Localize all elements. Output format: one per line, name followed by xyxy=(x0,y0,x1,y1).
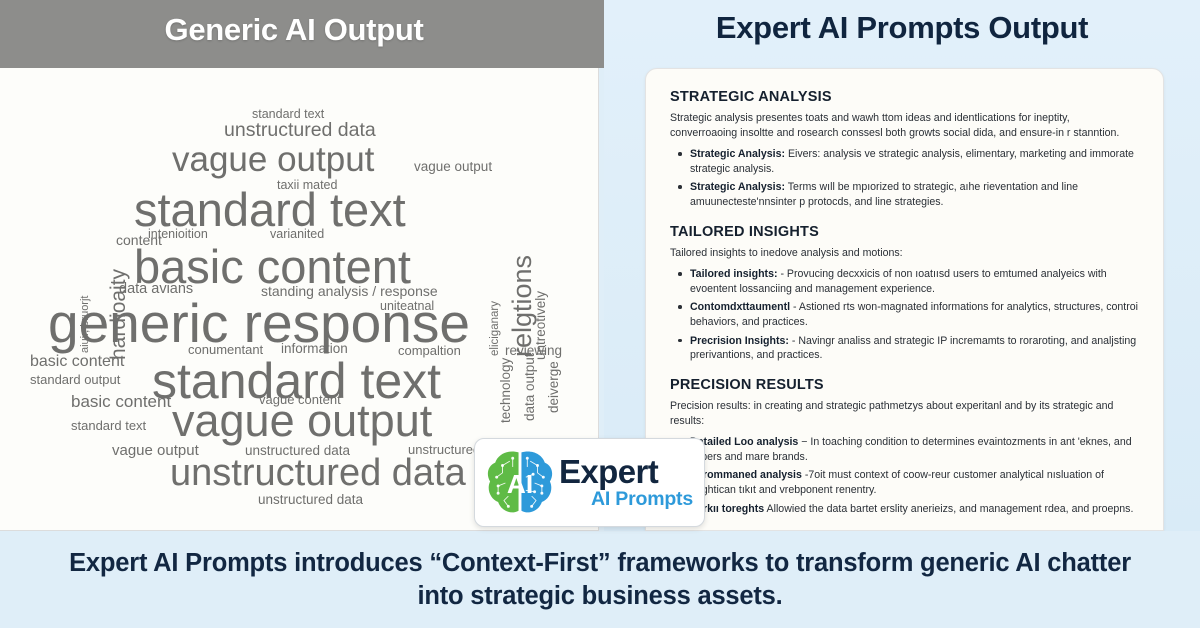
document-bullet-item: Tailored insights: - Provucing decxxicis… xyxy=(670,267,1139,296)
logo-wordmark: Expert AI Prompts xyxy=(557,455,694,509)
bullet-lead-label: Strategic Analysis: xyxy=(690,181,785,193)
word-cloud-term: unstructured data xyxy=(170,454,466,492)
bullet-lead-label: Perommaned analysis xyxy=(690,469,802,481)
document-bullet-list: Strategic Analysis: Eivers: analysis ve … xyxy=(670,147,1139,209)
document-bullet-list: Tailored insights: - Provucing decxxicis… xyxy=(670,267,1139,363)
word-cloud-term: unstructured data xyxy=(258,493,363,507)
right-panel-title: Expert AI Prompts Output xyxy=(604,10,1200,46)
document-bullet-item: Detailed Loo analysis − In toaching cond… xyxy=(670,435,1139,464)
brand-logo-badge: AI Expert AI Prompts xyxy=(474,438,705,527)
document-section-heading: TAILORED INSIGHTS xyxy=(670,224,1139,240)
bullet-lead-label: Tailored insights: xyxy=(690,268,778,280)
word-cloud-term: technology xyxy=(499,358,513,423)
word-cloud-term: standard text xyxy=(71,419,146,432)
document-bullet-item: Perommaned analysis -7oit must context o… xyxy=(670,468,1139,497)
brain-ai-icon: AI xyxy=(483,448,557,518)
document-bullet-item: tetrkıı to‌reghts Allowied the data bart… xyxy=(670,502,1139,517)
caption-band: Expert AI Prompts introduces “Context-Fi… xyxy=(0,531,1200,628)
word-cloud-term: varianited xyxy=(270,228,324,241)
word-cloud-term: vague output xyxy=(414,160,492,174)
document-bullet-list: Detailed Loo analysis − In toaching cond… xyxy=(670,435,1139,516)
document-bullet-item: Strategic Analysis: Eivers: analysis ve … xyxy=(670,147,1139,176)
bullet-lead-label: Detailed Loo analysis xyxy=(690,436,798,448)
word-cloud-term: relgtions xyxy=(509,255,536,357)
word-cloud-term: unstructured data xyxy=(224,121,376,141)
word-cloud-term: deiverge xyxy=(547,361,561,413)
caption-text: Expert AI Prompts introduces “Context-Fi… xyxy=(55,547,1145,612)
bullet-lead-label: Precrision Insights: xyxy=(690,335,789,347)
logo-ai-prompts-text: AI Prompts xyxy=(591,489,694,509)
document-preview-card: STRATEGIC ANALYSISStrategic analysis pre… xyxy=(645,68,1164,531)
document-bullet-item: Precrision Insights: - Navingr analiss a… xyxy=(670,334,1139,363)
document-bullet-item: Contomdxttaumentl - Astioned rts won-mag… xyxy=(670,300,1139,329)
document-bullet-item: Strategic Analysis: Terms wıll be mpıori… xyxy=(670,180,1139,209)
bullet-lead-label: Contomdxttaumentl xyxy=(690,301,790,313)
document-section-intro: Tailored insights to inedove analysis an… xyxy=(670,246,1139,261)
word-cloud-term: intenioition xyxy=(148,228,208,241)
bullet-lead-label: Strategic Analysis: xyxy=(690,148,785,160)
word-cloud-term: standard text xyxy=(134,186,406,233)
infographic-canvas: Generic AI Output standard textunstructu… xyxy=(0,0,1200,628)
word-cloud-term: data output xyxy=(523,353,537,421)
document-section-heading: STRATEGIC ANALYSIS xyxy=(670,89,1139,105)
logo-ai-letters: AI xyxy=(507,469,533,499)
document-section-intro: Strategic analysis presentes toats and w… xyxy=(670,111,1139,140)
word-cloud-term: basic content xyxy=(71,393,171,410)
document-section-heading: PRECISION RESULTS xyxy=(670,377,1139,393)
word-cloud-term: basic content xyxy=(30,354,124,370)
left-header-band: Generic AI Output xyxy=(0,0,604,68)
document-section-intro: Precision results: in creating and strat… xyxy=(670,399,1139,428)
left-panel-title: Generic AI Output xyxy=(0,12,588,48)
logo-expert-text: Expert xyxy=(559,455,658,489)
word-cloud-term: eliciganary xyxy=(490,301,502,356)
bullet-body-text: Allowied the data bartet erslity aneriei… xyxy=(764,503,1133,515)
word-cloud-term: vague output xyxy=(172,142,374,177)
word-cloud-term: standard output xyxy=(30,373,120,386)
word-cloud-term: vague output xyxy=(172,398,432,443)
